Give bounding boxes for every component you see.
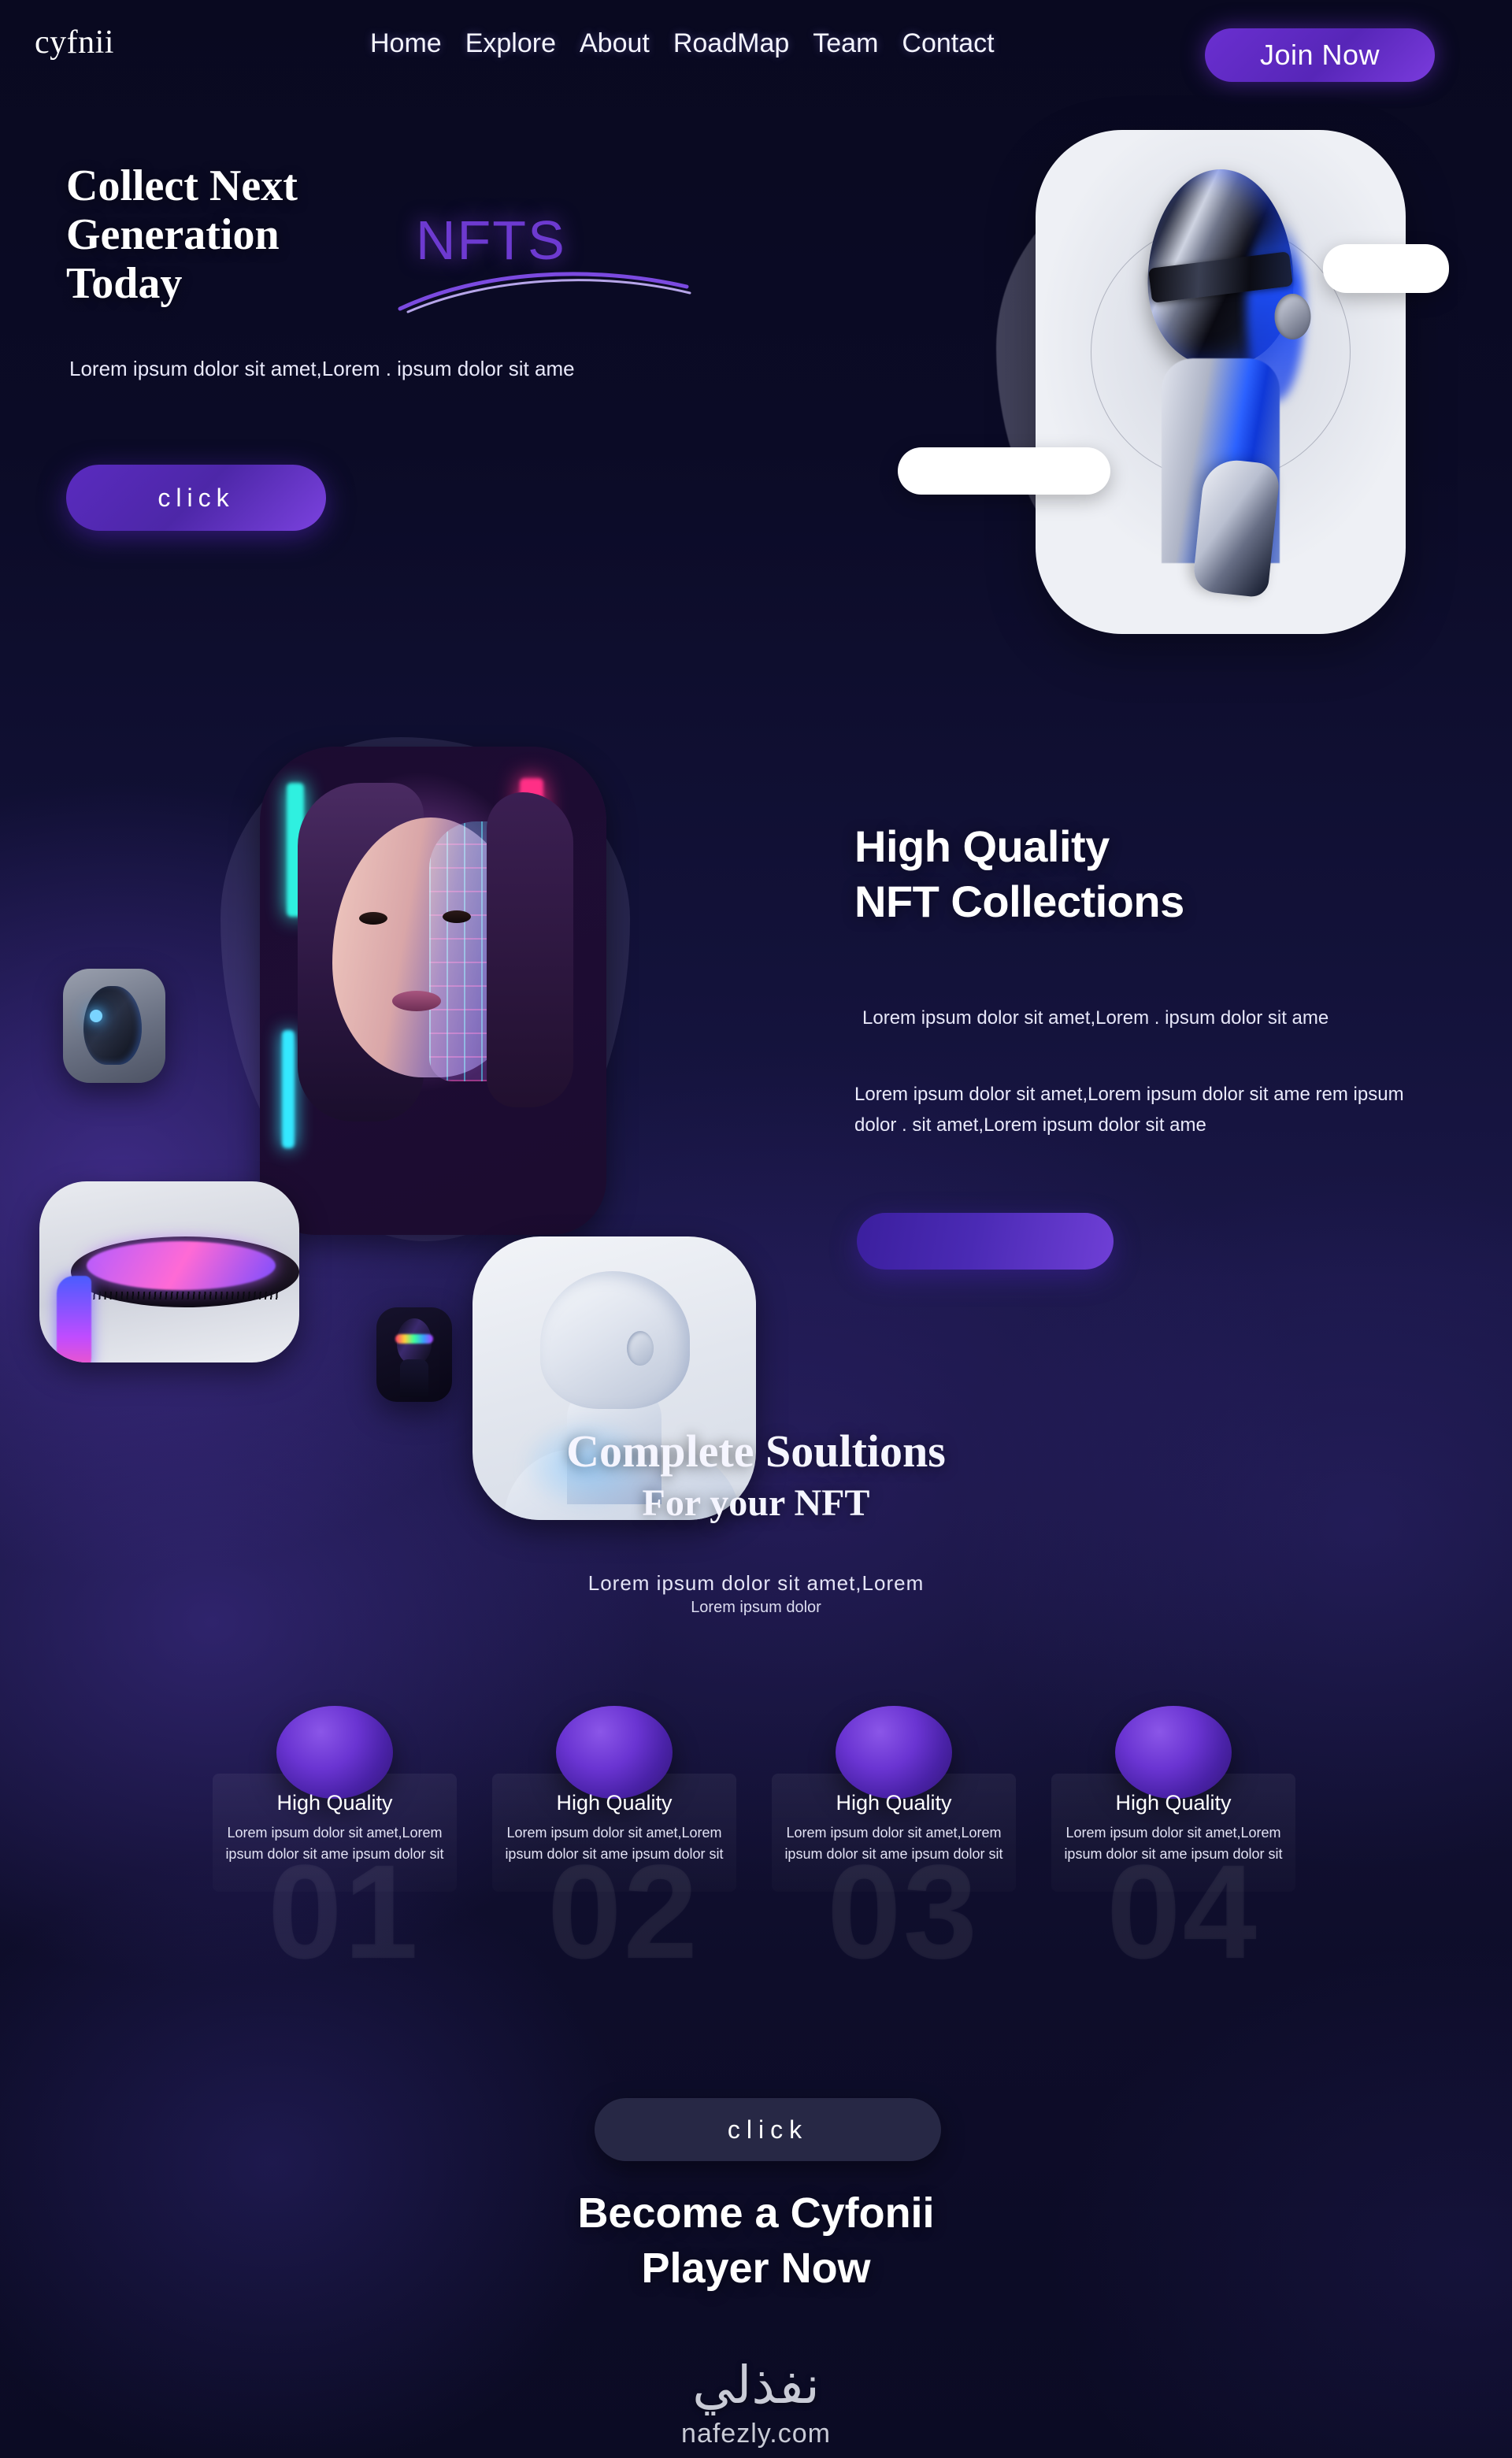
cta-title: Become a Cyfonii Player Now: [0, 2186, 1512, 2296]
collections-title: High Quality NFT Collections: [854, 819, 1184, 929]
nav-item-contact[interactable]: Contact: [902, 28, 994, 59]
collage-image-cyber-woman[interactable]: [260, 747, 606, 1235]
collections-title-line-2: NFT Collections: [854, 877, 1184, 926]
feature-card-text: Lorem ipsum dolor sit amet,Lorem ipsum d…: [781, 1822, 1006, 1865]
feature-card-text: Lorem ipsum dolor sit amet,Lorem ipsum d…: [222, 1822, 447, 1865]
feature-card-text: Lorem ipsum dolor sit amet,Lorem ipsum d…: [502, 1822, 727, 1865]
sphere-icon: [1115, 1706, 1232, 1799]
top-navbar: cyfnii Home Explore About RoadMap Team C…: [0, 0, 1512, 95]
collections-title-line-1: High Quality: [854, 821, 1110, 871]
collections-paragraph-2: Lorem ipsum dolor sit amet,Lorem ipsum d…: [854, 1079, 1406, 1140]
figure-hand: [1191, 457, 1280, 598]
iridescent-neck: [400, 1359, 428, 1397]
hero-pill-right: [1323, 244, 1449, 293]
hero-title-line-3: Today: [66, 259, 182, 308]
feature-card-title: High Quality: [213, 1791, 457, 1815]
sphere-icon: [556, 1706, 673, 1799]
collage-image-iridescent-head[interactable]: [376, 1307, 452, 1402]
footer-brand-arabic: نفذلي: [0, 2355, 1512, 2415]
cta-title-line-1: Become a Cyfonii: [577, 2189, 934, 2237]
feature-cards: 01 02 03 04 High Quality Lorem ipsum dol…: [0, 1678, 1512, 2071]
alien-ear: [627, 1331, 654, 1366]
neon-bar: [282, 1030, 295, 1148]
hero-subtitle: Lorem ipsum dolor sit amet,Lorem . ipsum…: [69, 354, 605, 383]
solutions-title-line-2: For your NFT: [0, 1477, 1512, 1529]
feature-card-title: High Quality: [492, 1791, 736, 1815]
nav-item-about[interactable]: About: [580, 28, 650, 59]
solutions-subtitle-2: Lorem ipsum dolor: [0, 1599, 1512, 1617]
cta-click-button[interactable]: click: [595, 2098, 941, 2161]
eye-lashes: [83, 1292, 280, 1299]
sphere-icon: [836, 1706, 952, 1799]
swoosh-underline-icon: [394, 260, 693, 315]
feature-card[interactable]: High Quality Lorem ipsum dolor sit amet,…: [492, 1774, 736, 1892]
landing-page: cyfnii Home Explore About RoadMap Team C…: [0, 0, 1512, 2458]
solutions-title: Complete Soultions For your NFT: [0, 1425, 1512, 1529]
robot-eye-glow: [90, 1010, 102, 1022]
nav-item-roadmap[interactable]: RoadMap: [673, 28, 789, 59]
cyber-woman-eye-right: [443, 910, 471, 923]
feature-card[interactable]: High Quality Lorem ipsum dolor sit amet,…: [1051, 1774, 1295, 1892]
nav-item-team[interactable]: Team: [813, 28, 878, 59]
hero-pill-left: [898, 447, 1110, 495]
brand-logo[interactable]: cyfnii: [35, 24, 114, 61]
cyber-woman-eye-left: [359, 912, 387, 925]
alien-head-shape: [540, 1271, 690, 1409]
join-now-button[interactable]: Join Now: [1205, 28, 1435, 82]
hero-title-line-2: Generation: [66, 210, 280, 259]
nav-links: Home Explore About RoadMap Team Contact: [370, 28, 995, 59]
footer-watermark: نفذلي nafezly.com: [0, 2355, 1512, 2449]
figure-ear: [1275, 294, 1311, 339]
hero-artwork: [988, 130, 1429, 650]
cta-title-line-2: Player Now: [641, 2245, 870, 2292]
sphere-icon: [276, 1706, 393, 1799]
cyber-woman-hair-right: [487, 792, 573, 1107]
collections-cta-button[interactable]: [857, 1213, 1114, 1270]
feature-card-title: High Quality: [772, 1791, 1016, 1815]
collage-image-robot-head[interactable]: [63, 969, 165, 1083]
hero-title-line-1: Collect Next: [66, 161, 298, 210]
feature-card[interactable]: High Quality Lorem ipsum dolor sit amet,…: [772, 1774, 1016, 1892]
cyber-woman-lips: [392, 991, 441, 1011]
eye-neon-drip: [57, 1276, 91, 1362]
hero-click-button[interactable]: click: [66, 465, 326, 531]
solutions-subtitle-1: Lorem ipsum dolor sit amet,Lorem: [0, 1571, 1512, 1596]
feature-card[interactable]: High Quality Lorem ipsum dolor sit amet,…: [213, 1774, 457, 1892]
collage-image-eye-closeup[interactable]: [39, 1181, 299, 1362]
hero-nft-image: [1036, 130, 1406, 634]
nft-collage: [63, 709, 709, 1331]
eye-neon-fluid: [87, 1241, 276, 1290]
footer-brand-latin: nafezly.com: [0, 2419, 1512, 2449]
iridescent-rainbow-band: [395, 1334, 433, 1344]
collections-paragraph-1: Lorem ipsum dolor sit amet,Lorem . ipsum…: [862, 1004, 1398, 1033]
nav-item-home[interactable]: Home: [370, 28, 442, 59]
feature-card-title: High Quality: [1051, 1791, 1295, 1815]
feature-card-text: Lorem ipsum dolor sit amet,Lorem ipsum d…: [1061, 1822, 1286, 1865]
solutions-title-line-1: Complete Soultions: [566, 1425, 946, 1477]
robot-head-shape: [83, 986, 142, 1065]
nav-item-explore[interactable]: Explore: [465, 28, 556, 59]
